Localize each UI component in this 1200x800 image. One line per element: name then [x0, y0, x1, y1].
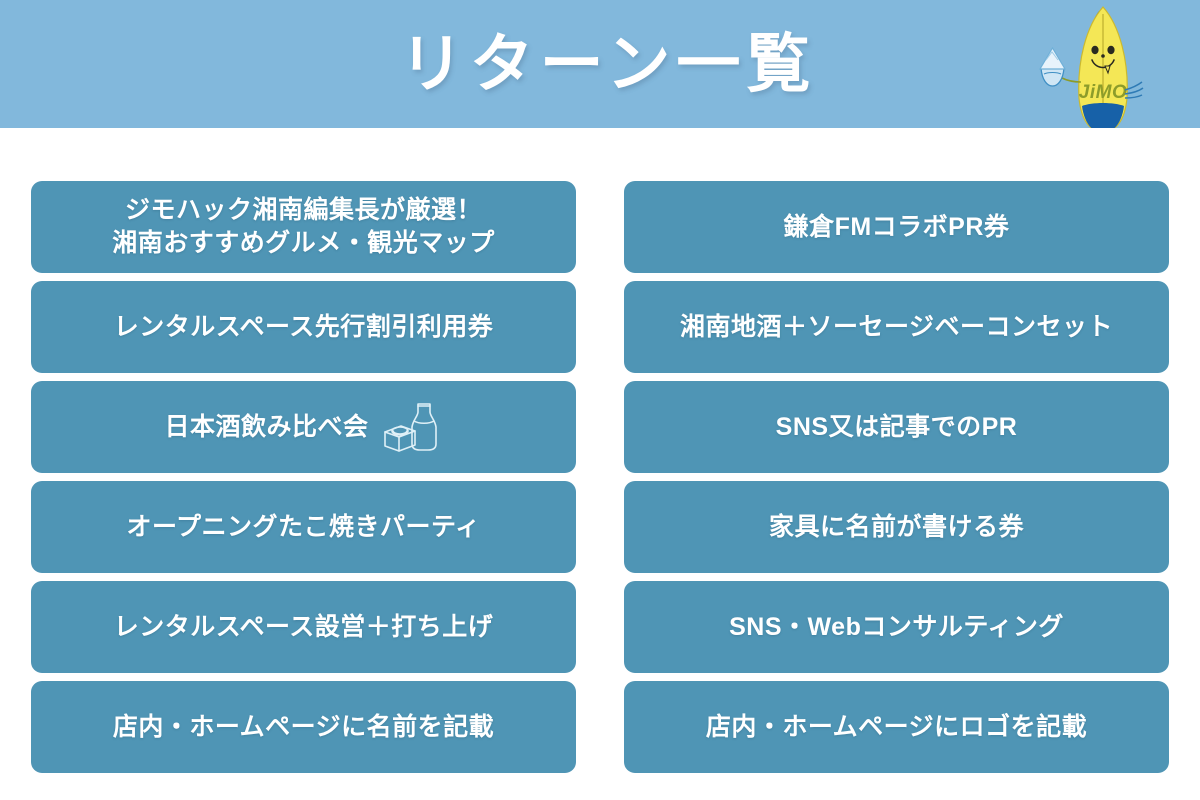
return-card-label: オープニングたこ焼きパーティ	[126, 511, 480, 544]
return-card-left-3[interactable]: 日本酒飲み比べ会	[31, 381, 576, 473]
return-card-label: レンタルスペース設営＋打ち上げ	[114, 611, 494, 644]
return-card-label: ジモハック湘南編集長が厳選！ 湘南おすすめグルメ・観光マップ	[112, 194, 495, 260]
return-card-label: 家具に名前が書ける券	[769, 511, 1024, 544]
return-card-label: 湘南地酒＋ソーセージベーコンセット	[680, 311, 1113, 344]
return-card-left-1[interactable]: ジモハック湘南編集長が厳選！ 湘南おすすめグルメ・観光マップ	[31, 181, 576, 273]
svg-text:JiMO: JiMO	[1079, 82, 1127, 103]
return-list-grid: ジモハック湘南編集長が厳選！ 湘南おすすめグルメ・観光マップ レンタルスペース先…	[31, 181, 1169, 773]
return-card-label: レンタルスペース先行割引利用券	[114, 311, 494, 344]
sake-set-icon	[381, 399, 443, 455]
return-card-label: 日本酒飲み比べ会	[164, 411, 368, 444]
return-card-left-5[interactable]: レンタルスペース設営＋打ち上げ	[31, 581, 576, 673]
return-card-right-6[interactable]: 店内・ホームページにロゴを記載	[624, 681, 1169, 773]
return-card-right-2[interactable]: 湘南地酒＋ソーセージベーコンセット	[624, 281, 1169, 373]
page-title: リターン一覧	[0, 0, 1200, 128]
return-card-label: 店内・ホームページに名前を記載	[113, 711, 494, 744]
return-card-label: SNS・Webコンサルティング	[729, 611, 1064, 644]
return-card-label: SNS又は記事でのPR	[776, 411, 1018, 444]
page-header: リターン一覧 JiMO	[0, 0, 1200, 128]
return-card-right-4[interactable]: 家具に名前が書ける券	[624, 481, 1169, 573]
return-card-label: 店内・ホームページにロゴを記載	[706, 711, 1087, 744]
return-card-label: 鎌倉FMコラボPR券	[784, 211, 1010, 244]
jimo-surfboard-mascot-icon: JiMO	[1028, 2, 1178, 128]
return-card-left-2[interactable]: レンタルスペース先行割引利用券	[31, 281, 576, 373]
return-card-left-4[interactable]: オープニングたこ焼きパーティ	[31, 481, 576, 573]
return-card-left-6[interactable]: 店内・ホームページに名前を記載	[31, 681, 576, 773]
return-card-right-5[interactable]: SNS・Webコンサルティング	[624, 581, 1169, 673]
return-card-right-1[interactable]: 鎌倉FMコラボPR券	[624, 181, 1169, 273]
return-card-right-3[interactable]: SNS又は記事でのPR	[624, 381, 1169, 473]
